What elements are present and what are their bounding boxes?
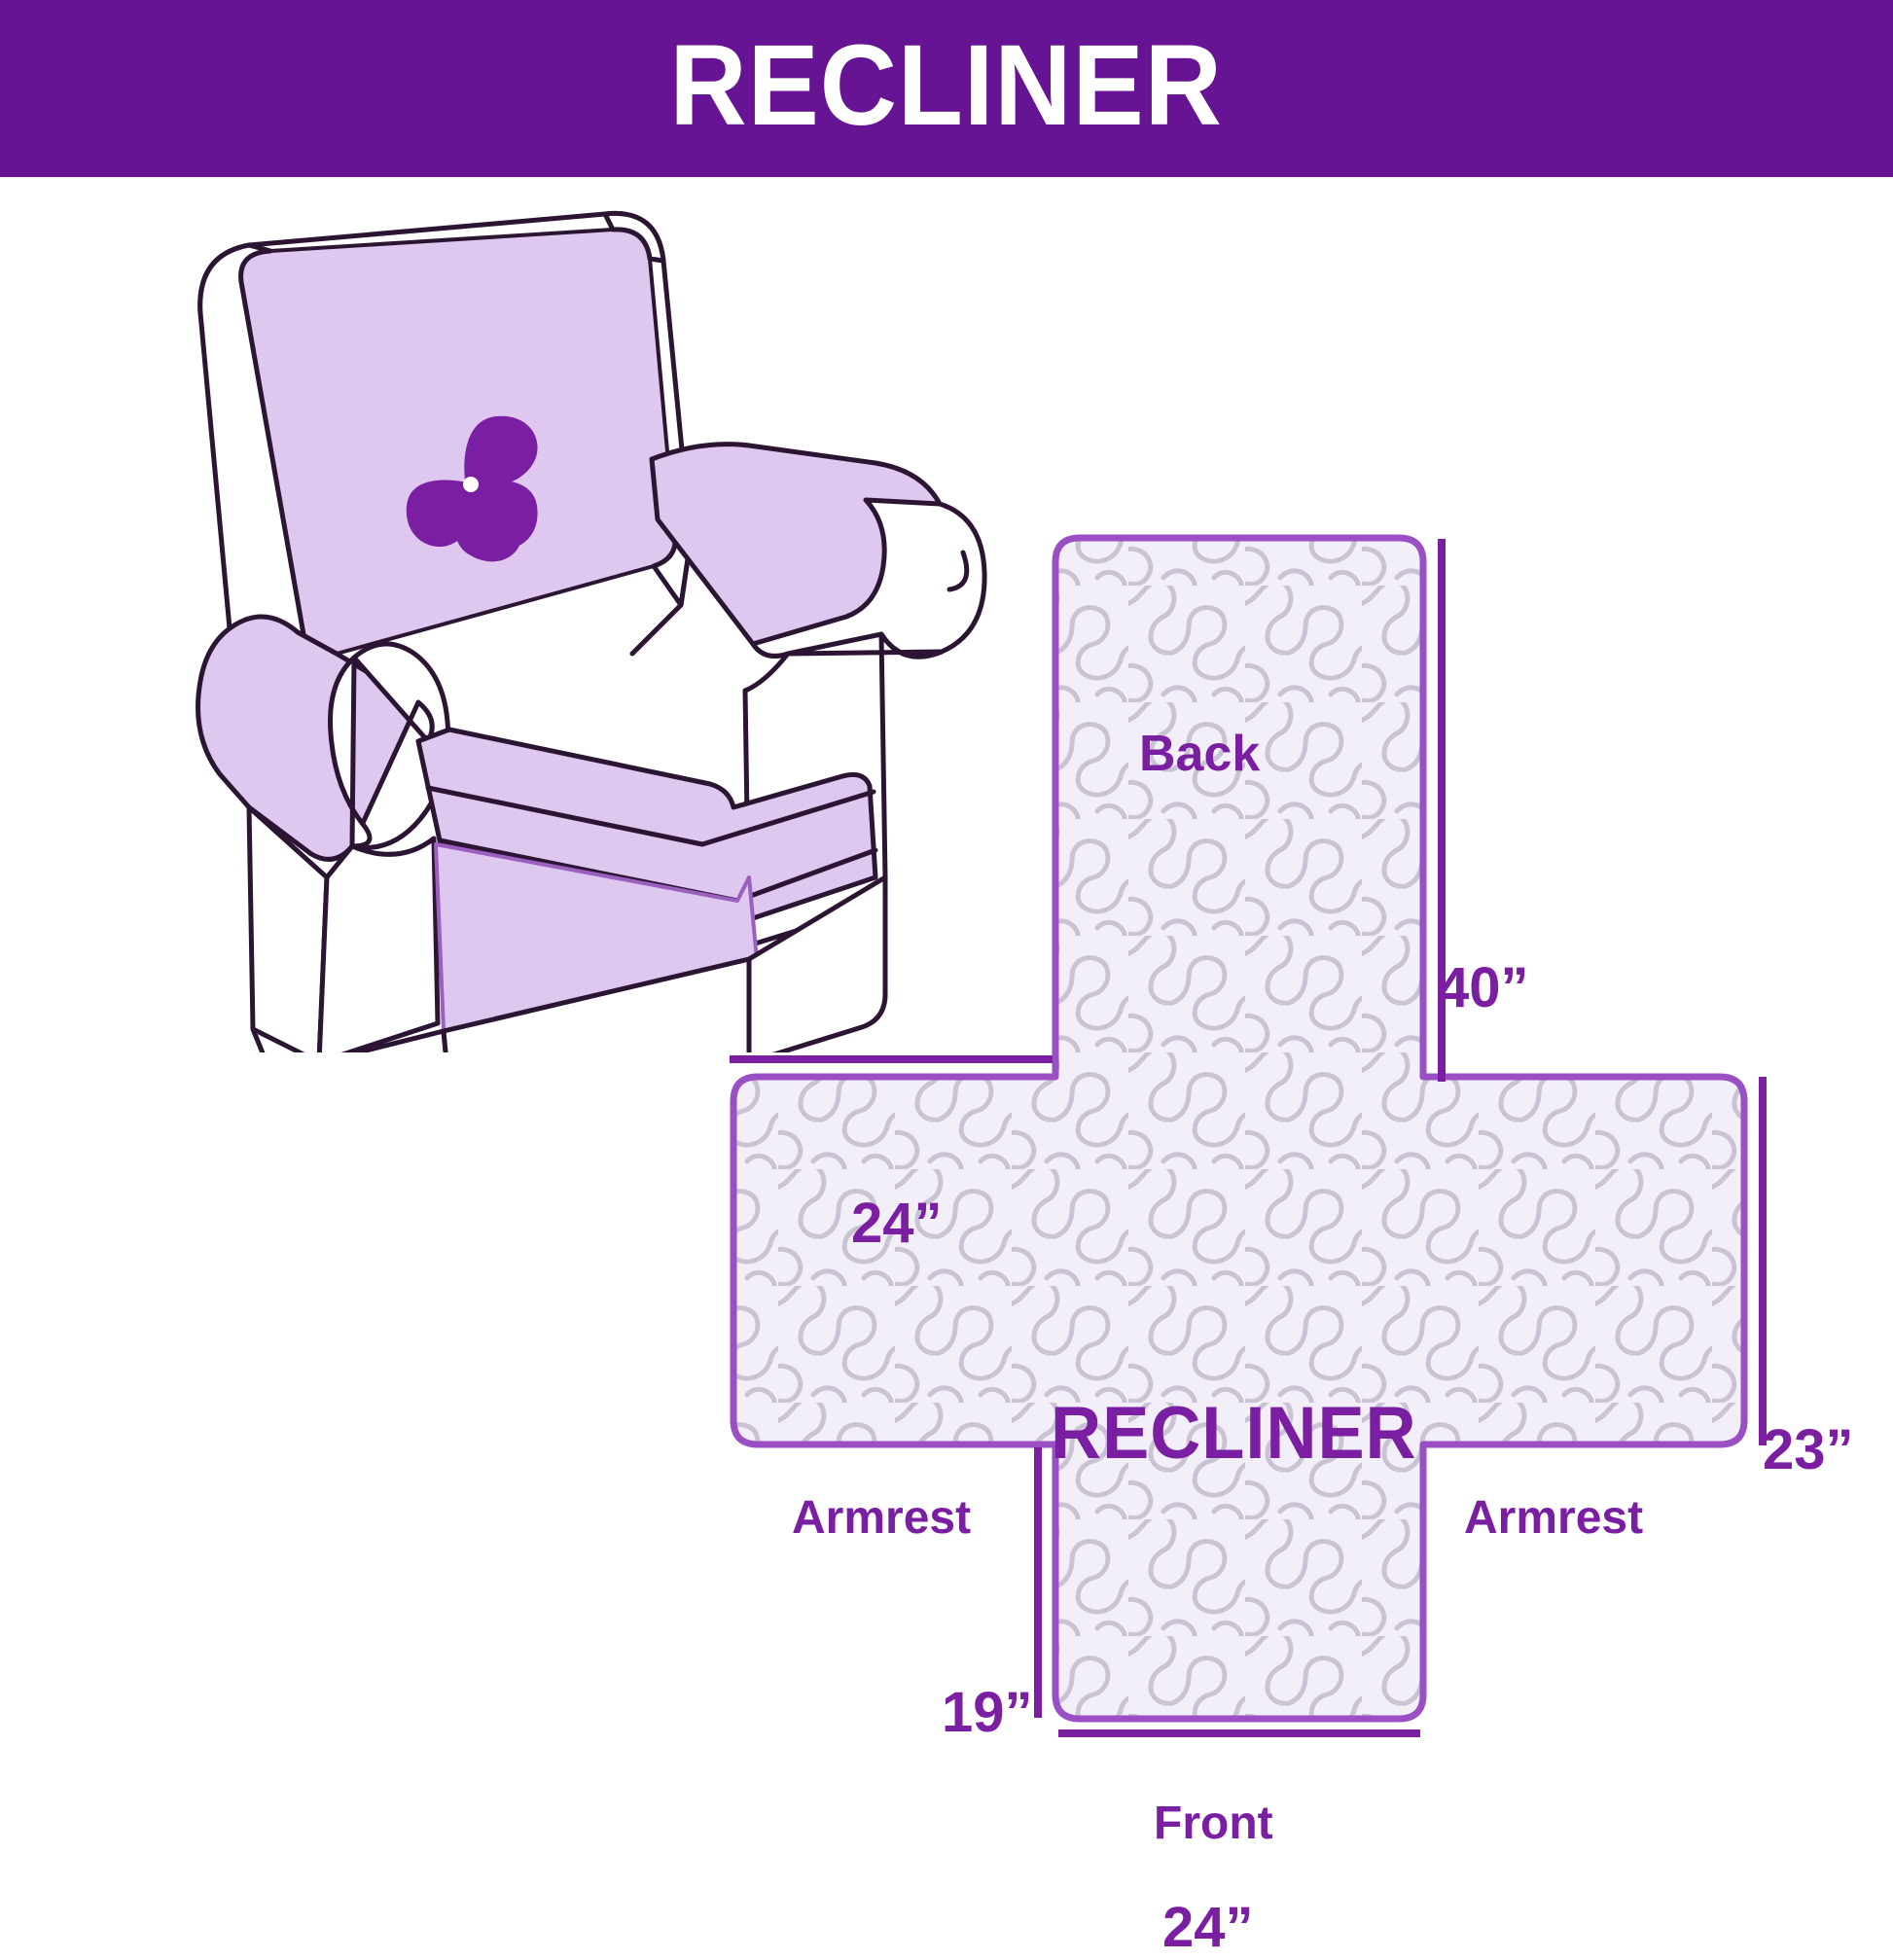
page-title: RECLINER (670, 28, 1223, 143)
flat-pattern-product-name: RECLINER (1051, 1391, 1417, 1476)
dimension-label-armrest-width: 24” (851, 1191, 943, 1256)
dimension-label-back-height: 40” (1438, 955, 1529, 1020)
diagram-stage: Back RECLINER Armrest Armrest Front 40” … (0, 177, 1893, 1893)
dimension-label-front-height: 19” (942, 1680, 1033, 1745)
panel-label-armrest-left: Armrest (792, 1491, 971, 1545)
dimension-label-seat-depth: 23” (1763, 1417, 1854, 1482)
panel-label-front: Front (1154, 1797, 1273, 1850)
panel-label-armrest-right: Armrest (1464, 1491, 1643, 1545)
dimension-label-front-width: 24” (1162, 1895, 1254, 1960)
panel-label-back: Back (1139, 725, 1260, 783)
header-banner: RECLINER (0, 0, 1893, 177)
slipcover-flat-pattern (545, 469, 1893, 1893)
